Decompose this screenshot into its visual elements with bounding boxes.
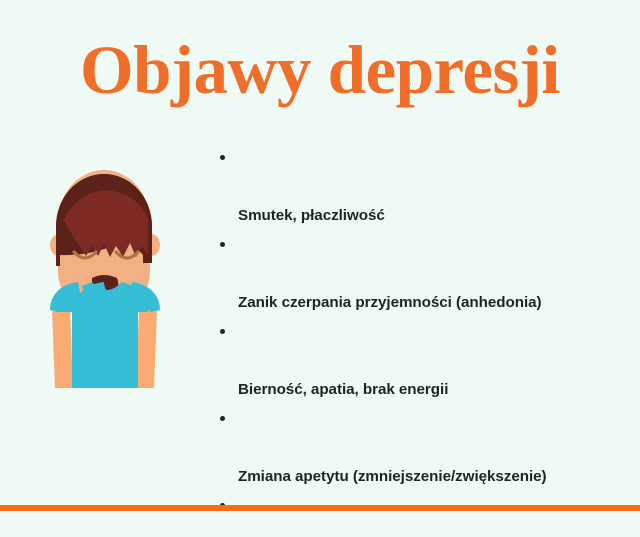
bullet-dot-icon bbox=[220, 416, 225, 421]
bullet-dot-icon bbox=[220, 155, 225, 160]
list-item: Bierność, apatia, brak energii bbox=[218, 317, 630, 404]
bullet-dot-icon bbox=[220, 329, 225, 334]
right-arm-shape bbox=[136, 310, 157, 388]
left-arm-shape bbox=[52, 310, 73, 388]
symptom-list: Smutek, płaczliwość Zanik czerpania przy… bbox=[218, 143, 630, 537]
bottom-divider-rule bbox=[0, 505, 640, 511]
bullet-dot-icon bbox=[220, 242, 225, 247]
list-item: Zanik czerpania przyjemności (anhedonia) bbox=[218, 230, 630, 317]
list-item: Trudności z z zasypianiem, wczesne wybud… bbox=[218, 491, 630, 537]
list-item-label: Zanik czerpania przyjemności (anhedonia) bbox=[238, 294, 542, 311]
list-item-label: Smutek, płaczliwość bbox=[238, 207, 385, 224]
page-title: Objawy depresji bbox=[0, 36, 640, 105]
list-item-label: Zmiana apetytu (zmniejszenie/zwiększenie… bbox=[238, 468, 547, 485]
sad-boy-illustration bbox=[30, 160, 225, 395]
list-item: Zmiana apetytu (zmniejszenie/zwiększenie… bbox=[218, 404, 630, 491]
poster-canvas: Objawy depresji bbox=[0, 0, 640, 537]
list-item: Smutek, płaczliwość bbox=[218, 143, 630, 230]
shirt-body-shape bbox=[72, 300, 138, 388]
list-item-label: Bierność, apatia, brak energii bbox=[238, 381, 448, 398]
